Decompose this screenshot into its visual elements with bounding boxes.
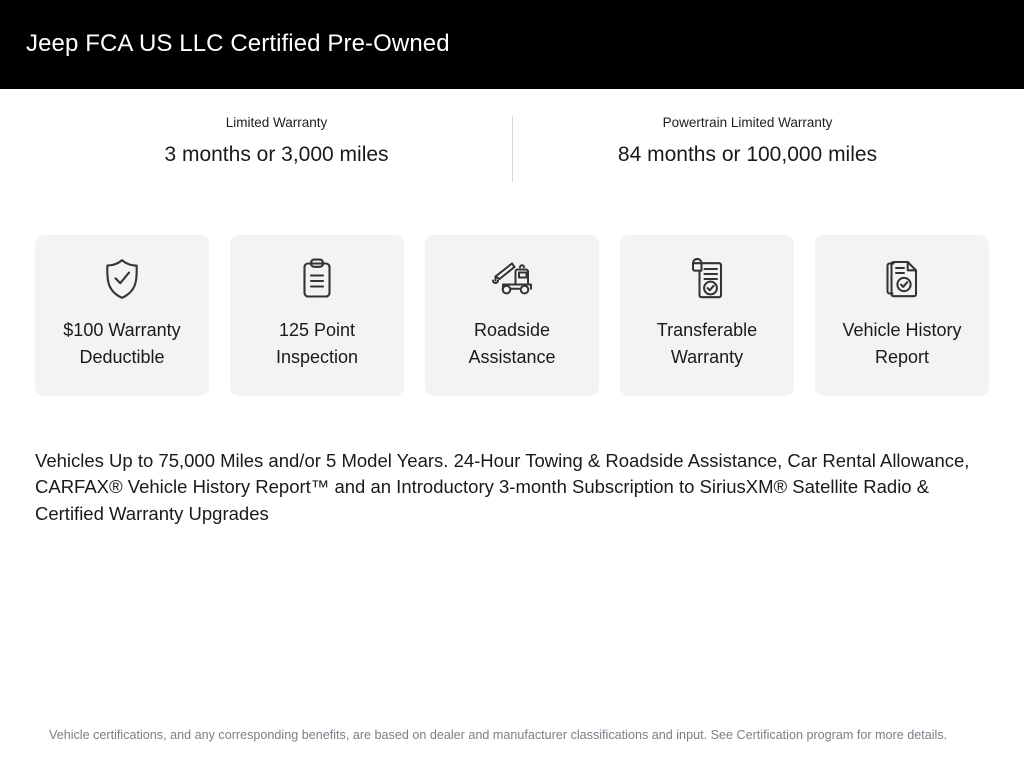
page-header: Jeep FCA US LLC Certified Pre-Owned (0, 0, 1024, 89)
program-description: Vehicles Up to 75,000 Miles and/or 5 Mod… (0, 396, 1024, 527)
feature-card-label: Transferable Warranty (657, 317, 757, 371)
page-footer: Vehicle certifications, and any correspo… (0, 726, 1024, 768)
clipboard-icon (298, 257, 336, 301)
feature-card-label: Roadside Assistance (468, 317, 555, 371)
powertrain-warranty-value: 84 months or 100,000 miles (618, 142, 877, 168)
feature-card-warranty-deductible[interactable]: $100 Warranty Deductible (35, 235, 209, 396)
limited-warranty-block: Limited Warranty 3 months or 3,000 miles (42, 114, 512, 192)
limited-warranty-value: 3 months or 3,000 miles (164, 142, 388, 168)
document-check-scroll-icon (686, 257, 728, 301)
warranty-summary: Limited Warranty 3 months or 3,000 miles… (0, 89, 1024, 192)
feature-card-vehicle-history-report[interactable]: Vehicle History Report (815, 235, 989, 396)
feature-card-roadside-assistance[interactable]: Roadside Assistance (425, 235, 599, 396)
stacked-documents-check-icon (881, 257, 923, 301)
feature-card-point-inspection[interactable]: 125 Point Inspection (230, 235, 404, 396)
limited-warranty-label: Limited Warranty (226, 114, 328, 132)
tow-truck-icon (486, 257, 538, 301)
certified-pre-owned-page: Jeep FCA US LLC Certified Pre-Owned Limi… (0, 0, 1024, 768)
program-description-text: Vehicles Up to 75,000 Miles and/or 5 Mod… (35, 448, 989, 527)
feature-card-label: 125 Point Inspection (276, 317, 358, 371)
page-title: Jeep FCA US LLC Certified Pre-Owned (26, 30, 450, 59)
feature-card-list: $100 Warranty Deductible 125 Point Inspe… (0, 192, 1024, 396)
footer-disclaimer-text: Vehicle certifications, and any correspo… (49, 726, 980, 746)
feature-card-label: $100 Warranty Deductible (63, 317, 180, 371)
feature-card-label: Vehicle History Report (842, 317, 961, 371)
shield-check-icon (101, 257, 143, 301)
powertrain-warranty-block: Powertrain Limited Warranty 84 months or… (513, 114, 983, 192)
layout-spacer (0, 527, 1024, 727)
feature-card-transferable-warranty[interactable]: Transferable Warranty (620, 235, 794, 396)
powertrain-warranty-label: Powertrain Limited Warranty (663, 114, 833, 132)
